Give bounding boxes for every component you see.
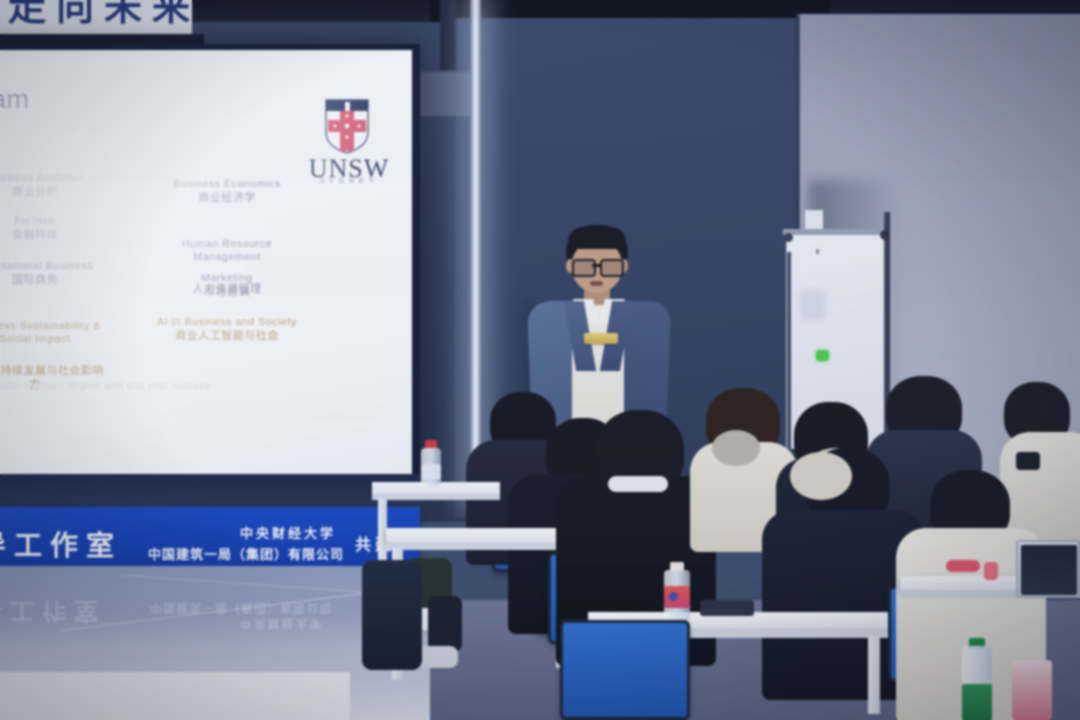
program-item: FinTech 金融科技 xyxy=(0,215,120,242)
program-zh: 商业分析 xyxy=(0,185,120,199)
student-collar xyxy=(608,476,668,492)
whiteboard-knob xyxy=(784,233,793,242)
program-en: AI in Business and Society xyxy=(142,316,312,329)
student-body xyxy=(362,560,422,670)
hair-bun xyxy=(712,430,760,466)
water-bottle xyxy=(962,638,992,720)
tablet xyxy=(700,600,754,616)
program-item: Business Analytics 商业分析 xyxy=(0,172,120,199)
desk-edge xyxy=(372,494,500,500)
unsw-logo: UNSW SYDNEY xyxy=(300,98,398,198)
program-item: Human Resource Management 人力资源管理 xyxy=(142,220,312,314)
glasses-bridge xyxy=(592,264,600,267)
laptop xyxy=(1016,540,1080,598)
overhead-sign-text: 走向未来 xyxy=(8,0,198,24)
program-en: Human Resource Management xyxy=(142,238,312,264)
banner-left-text: 导工作室 xyxy=(0,524,138,564)
green-magnet-icon xyxy=(816,350,829,361)
desk xyxy=(386,528,570,542)
bottle-label xyxy=(421,464,441,480)
hair-accessory xyxy=(790,452,852,500)
wall-mounted-box xyxy=(418,72,474,116)
whiteboard-top-rail xyxy=(783,229,889,235)
program-item-highlighted: AI in Business and Society 商业人工智能与社会 xyxy=(142,316,312,343)
program-en: Business Economics xyxy=(142,178,312,191)
program-zh: 商业经济学 xyxy=(142,191,312,205)
bottle-label xyxy=(962,684,992,720)
whiteboard-knob xyxy=(880,230,890,240)
laptop-screen xyxy=(1021,545,1077,595)
program-item: Marketing 市场营销 xyxy=(142,272,312,299)
program-zh: 国际商务 xyxy=(0,273,120,287)
presenter-mouth xyxy=(590,281,603,286)
program-en: Business Analytics xyxy=(0,172,120,185)
bottle-label-dot xyxy=(669,592,678,601)
slide-subtitle: 问 xyxy=(0,112,102,136)
program-en: Marketing xyxy=(142,272,312,285)
program-item: Business Economics 商业经济学 xyxy=(142,178,312,205)
program-item-highlighted: Business Sustainability & Social Impact … xyxy=(0,302,120,410)
smartwatch xyxy=(1016,452,1040,470)
desk-leg xyxy=(868,636,880,714)
sneaker xyxy=(418,646,458,668)
program-item: International Business 国际商务 xyxy=(0,260,120,287)
screen-bottom-trim xyxy=(0,474,422,508)
chair xyxy=(560,620,690,720)
floor-highlight xyxy=(0,672,350,720)
name-badge xyxy=(584,333,618,344)
student-leg xyxy=(428,596,462,652)
program-en: Business Sustainability & Social Impact xyxy=(0,320,120,346)
program-en: FinTech xyxy=(0,215,120,228)
program-zh: 市场营销 xyxy=(142,285,312,299)
water-bottle xyxy=(664,562,690,620)
program-en: International Business xyxy=(0,260,120,273)
presenter-hair-fringe xyxy=(568,227,626,249)
lecture-hall-photo: 走向未来 gram 问 UNSW SYDNEY Business Analyti… xyxy=(0,0,1080,720)
program-zh: 商业人工智能与社会 xyxy=(142,329,312,343)
slide-footnote: dergraduate- honours degree with one yea… xyxy=(0,381,340,392)
wall-dark-bar xyxy=(440,0,456,70)
slide-title: gram xyxy=(0,84,196,115)
cup xyxy=(1012,660,1052,720)
overhead-sign-shadow xyxy=(0,34,204,44)
water-bottle xyxy=(421,440,441,486)
pink-object xyxy=(984,562,998,580)
desk-edge xyxy=(386,542,570,550)
glasses-icon xyxy=(600,259,624,277)
unsw-shield-icon xyxy=(324,98,370,154)
whiteboard-scuff xyxy=(800,290,826,320)
program-zh: 金融科技 xyxy=(0,228,120,242)
pink-object xyxy=(946,560,980,572)
glasses-icon xyxy=(572,259,596,277)
whiteboard-mark xyxy=(816,249,819,254)
